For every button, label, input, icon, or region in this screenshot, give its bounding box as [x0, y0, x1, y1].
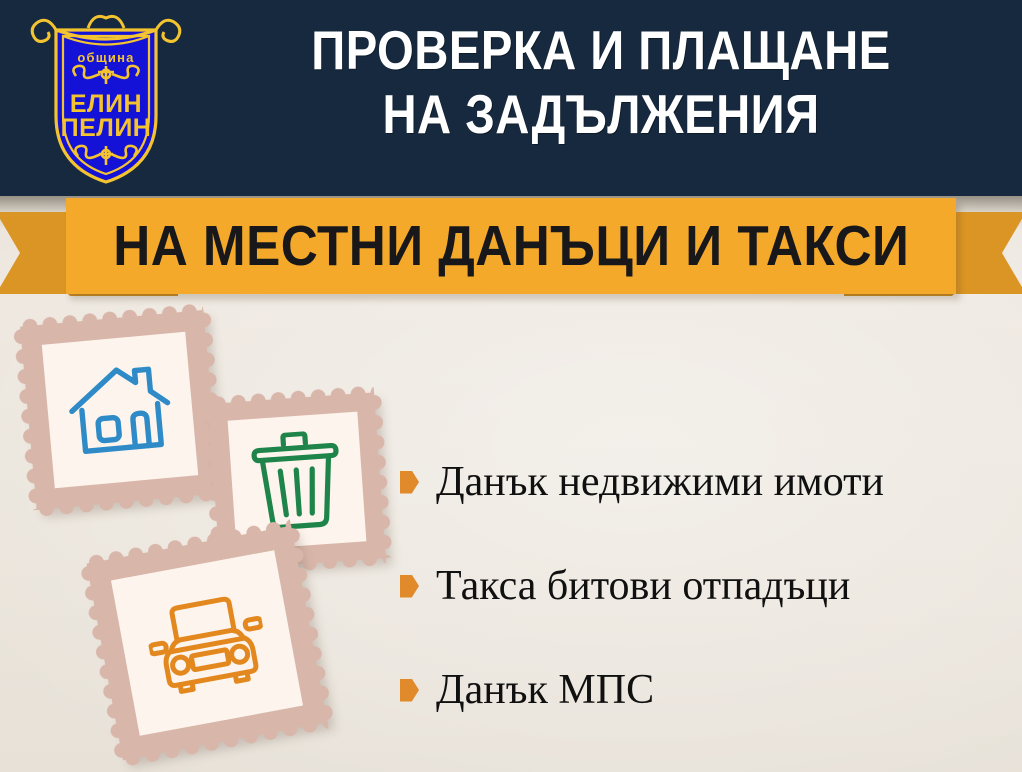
list-item-label: Такса битови отпадъци [436, 565, 850, 607]
photo-card-house [20, 310, 220, 510]
ribbon-label: НА МЕСТНИ ДАНЪЦИ И ТАКСИ [113, 213, 909, 279]
car-front-icon [111, 550, 303, 736]
municipality-logo: община ЕЛИН ПЕЛИН [26, 8, 186, 188]
list-item[interactable]: Данък недвижими имоти [400, 430, 1010, 534]
arrow-bullet-icon [400, 679, 419, 702]
poster-title: ПРОВЕРКА И ПЛАЩАНЕ НА ЗАДЪЛЖЕНИЯ [196, 18, 1006, 147]
title-line-1: ПРОВЕРКА И ПЛАЩАНЕ [253, 18, 950, 82]
house-icon [42, 332, 198, 488]
tax-type-list: Данък недвижими имоти Такса битови отпад… [400, 430, 1010, 742]
photo-card-car [87, 526, 328, 761]
list-item-label: Данък недвижими имоти [436, 461, 884, 503]
logo-line3: ПЕЛИН [61, 114, 152, 142]
arrow-bullet-icon [400, 471, 419, 494]
list-item-label: Данък МПС [436, 669, 654, 711]
photo-card-paper [42, 332, 198, 488]
list-item[interactable]: Такса битови отпадъци [400, 534, 1010, 638]
logo-line1: община [77, 50, 134, 65]
subtitle-ribbon: НА МЕСТНИ ДАНЪЦИ И ТАКСИ [0, 198, 1022, 308]
photo-card-paper [111, 550, 303, 736]
photo-card-paper [228, 412, 367, 551]
list-item[interactable]: Данък МПС [400, 638, 1010, 742]
poster-canvas: община ЕЛИН ПЕЛИН ПРОВЕРКА И ПЛАЩАНЕ [0, 0, 1022, 772]
arrow-bullet-icon [400, 575, 419, 598]
ribbon-text-wrapper: НА МЕСТНИ ДАНЪЦИ И ТАКСИ [66, 198, 956, 294]
title-line-2: НА ЗАДЪЛЖЕНИЯ [253, 82, 950, 146]
ribbon-banner: НА МЕСТНИ ДАНЪЦИ И ТАКСИ [66, 198, 956, 294]
trash-bin-icon [228, 412, 367, 551]
